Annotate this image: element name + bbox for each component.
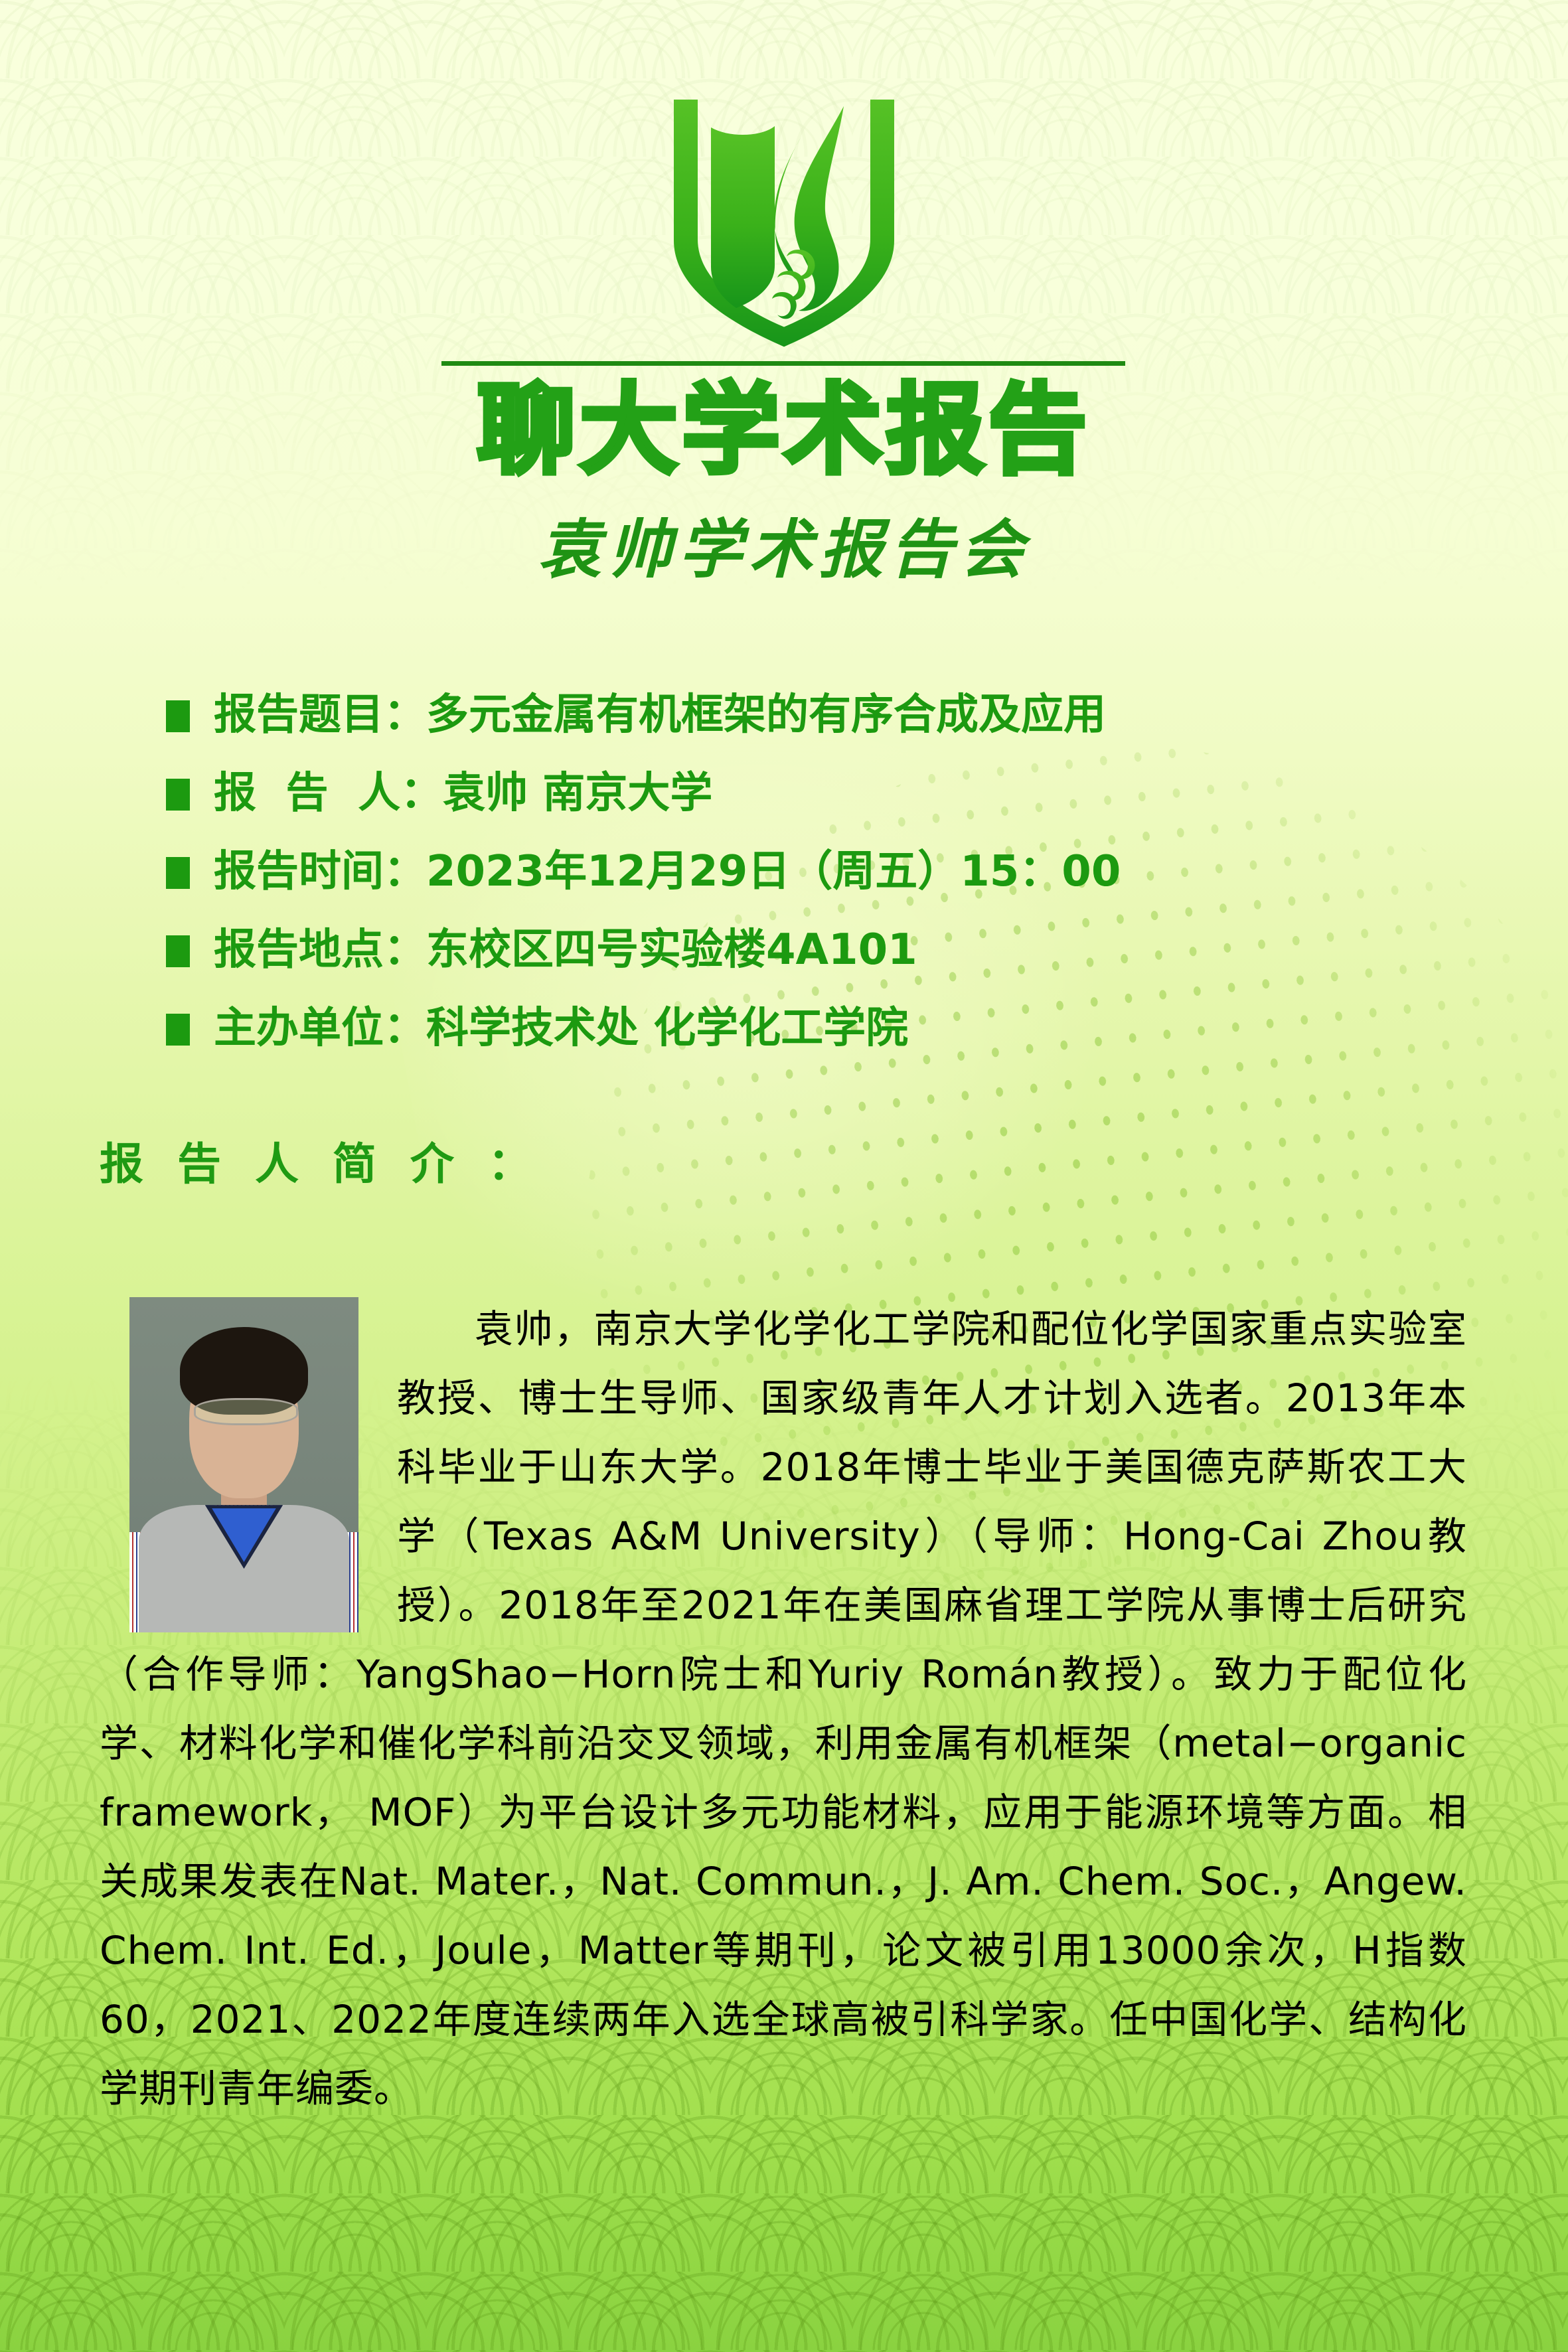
info-value: 袁帅 南京大学 bbox=[443, 765, 712, 821]
bio-heading: 报 告 人 简 介 ： bbox=[100, 1129, 541, 1192]
poster-root: 聊大学术报告 袁帅学术报告会 报告题目： 多元金属有机框架的有序合成及应用 报 … bbox=[0, 0, 1568, 2352]
square-bullet-icon bbox=[166, 700, 190, 732]
info-row-title: 报告题目： 多元金属有机框架的有序合成及应用 bbox=[166, 687, 1427, 747]
info-value: 东校区四号实验楼4A101 bbox=[426, 922, 917, 978]
liaocheng-university-shield-logo bbox=[645, 100, 923, 365]
info-value: 科学技术处 化学化工学院 bbox=[426, 1000, 908, 1056]
title-divider bbox=[441, 361, 1125, 366]
square-bullet-icon bbox=[166, 779, 190, 811]
info-label: 报告地点： bbox=[214, 922, 426, 978]
info-value: 多元金属有机框架的有序合成及应用 bbox=[426, 687, 1106, 743]
info-row-time: 报告时间： 2023年12月29日（周五）15：00 bbox=[166, 844, 1427, 903]
square-bullet-icon bbox=[166, 935, 190, 967]
speaker-bio-block: 袁帅，南京大学化学化工学院和配位化学国家重点实验室教授、博士生导师、国家级青年人… bbox=[100, 1294, 1467, 2123]
square-bullet-icon bbox=[166, 857, 190, 889]
info-row-location: 报告地点： 东校区四号实验楼4A101 bbox=[166, 922, 1427, 982]
info-value: 2023年12月29日（周五）15：00 bbox=[426, 844, 1121, 900]
speaker-photo bbox=[129, 1297, 358, 1632]
info-label: 报 告 人： bbox=[214, 765, 443, 821]
university-logo bbox=[0, 100, 1568, 365]
info-label: 主办单位： bbox=[214, 1000, 426, 1056]
info-label: 报告题目： bbox=[214, 687, 426, 743]
event-subtitle: 袁帅学术报告会 bbox=[0, 518, 1568, 582]
lecture-info-list: 报告题目： 多元金属有机框架的有序合成及应用 报 告 人： 袁帅 南京大学 报告… bbox=[166, 687, 1427, 1079]
info-row-organizer: 主办单位： 科学技术处 化学化工学院 bbox=[166, 1000, 1427, 1060]
page-title: 聊大学术报告 bbox=[0, 381, 1568, 479]
info-label: 报告时间： bbox=[214, 844, 426, 900]
poster-content: 聊大学术报告 袁帅学术报告会 报告题目： 多元金属有机框架的有序合成及应用 报 … bbox=[0, 0, 1568, 2352]
info-row-speaker: 报 告 人： 袁帅 南京大学 bbox=[166, 765, 1427, 825]
square-bullet-icon bbox=[166, 1014, 190, 1046]
photo-glasses bbox=[194, 1398, 299, 1425]
